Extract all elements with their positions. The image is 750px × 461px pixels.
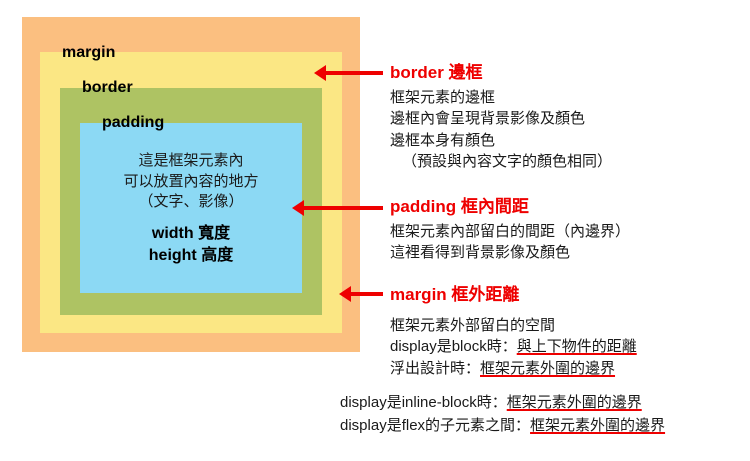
box-model-diagram: margin border padding 這是框架元素內 可以放置內容的地方 … xyxy=(22,17,360,352)
annotation-padding: padding 框內間距 框架元素內部留白的間距（內邊界） 這裡看得到背景影像及… xyxy=(390,192,630,264)
footnote-line-1-underlined: 框架元素外圍的邊界 xyxy=(507,394,642,411)
content-line-2: 可以放置內容的地方 xyxy=(80,172,302,193)
annotation-border-line-4: （預設與內容文字的顏色相同） xyxy=(390,151,612,172)
annotation-border-title: border 邊框 xyxy=(390,58,612,83)
arrow-left-icon-padding xyxy=(303,206,383,210)
annotation-padding-title: padding 框內間距 xyxy=(390,192,630,217)
annotation-margin-line-3-prefix: 浮出設計時： xyxy=(390,360,480,377)
annotation-padding-line-2: 這裡看得到背景影像及顏色 xyxy=(390,242,630,263)
arrow-left-icon-border xyxy=(325,71,383,75)
footnote-line-2: display是flex的子元素之間：框架元素外圍的邊界 xyxy=(340,415,665,438)
content-width-label: width 寬度 xyxy=(80,223,302,245)
footnote-line-2-underlined: 框架元素外圍的邊界 xyxy=(530,417,665,434)
footnote-line-1-prefix: display是inline-block時： xyxy=(340,394,507,411)
content-height-label: height 高度 xyxy=(80,245,302,267)
padding-box-label: padding xyxy=(102,114,164,132)
annotation-margin-line-3-underlined: 框架元素外圍的邊界 xyxy=(480,360,615,377)
annotation-margin: margin 框外距離 框架元素外部留白的空間 display是block時：與… xyxy=(390,280,637,379)
annotation-margin-line-2-underlined: 與上下物件的距離 xyxy=(517,338,637,355)
annotation-border-line-3: 邊框本身有顏色 xyxy=(390,130,612,151)
margin-box-label: margin xyxy=(62,44,115,62)
annotation-padding-line-1: 框架元素內部留白的間距（內邊界） xyxy=(390,221,630,242)
annotation-margin-line-3: 浮出設計時：框架元素外圍的邊界 xyxy=(390,358,637,379)
annotation-margin-body: 框架元素外部留白的空間 display是block時：與上下物件的距離 浮出設計… xyxy=(390,315,637,379)
content-line-3: （文字、影像） xyxy=(80,192,302,213)
content-line-1: 這是框架元素內 xyxy=(80,151,302,172)
annotation-border-body: 框架元素的邊框 邊框內會呈現背景影像及顏色 邊框本身有顏色 （預設與內容文字的顏… xyxy=(390,87,612,172)
footnote-line-1: display是inline-block時：框架元素外圍的邊界 xyxy=(340,392,665,415)
arrow-left-icon-margin xyxy=(350,292,383,296)
annotation-border: border 邊框 框架元素的邊框 邊框內會呈現背景影像及顏色 邊框本身有顏色 … xyxy=(390,58,612,172)
footnote-line-2-prefix: display是flex的子元素之間： xyxy=(340,417,530,434)
annotation-margin-line-1: 框架元素外部留白的空間 xyxy=(390,315,637,336)
annotation-padding-body: 框架元素內部留白的間距（內邊界） 這裡看得到背景影像及顏色 xyxy=(390,221,630,264)
content-box-text: 這是框架元素內 可以放置內容的地方 （文字、影像） width 寬度 heigh… xyxy=(80,151,302,267)
annotation-margin-line-2-prefix: display是block時： xyxy=(390,338,517,355)
annotation-border-line-2: 邊框內會呈現背景影像及顏色 xyxy=(390,108,612,129)
annotation-border-line-1: 框架元素的邊框 xyxy=(390,87,612,108)
footnotes: display是inline-block時：框架元素外圍的邊界 display是… xyxy=(340,392,665,437)
annotation-margin-line-2: display是block時：與上下物件的距離 xyxy=(390,336,637,357)
annotation-margin-title: margin 框外距離 xyxy=(390,280,637,305)
border-box-label: border xyxy=(82,79,133,97)
